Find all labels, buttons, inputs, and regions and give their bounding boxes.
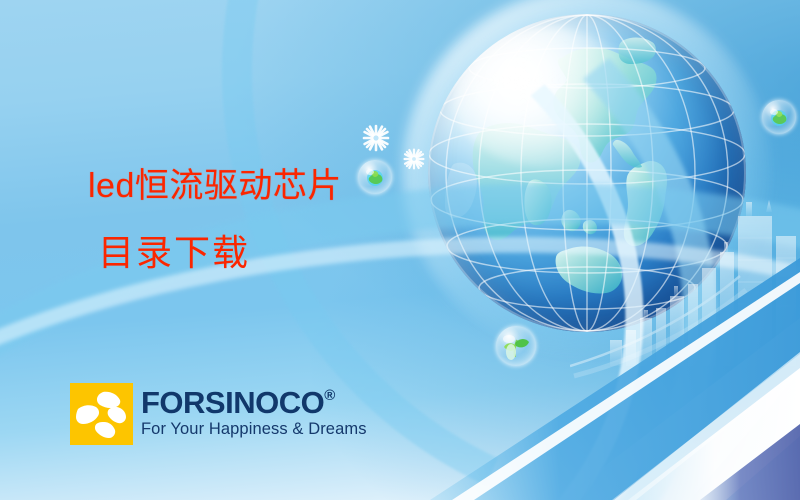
brand-tagline: For Your Happiness & Dreams: [141, 420, 367, 439]
pinwheel-flower-icon: [70, 383, 133, 445]
page-title: led恒流驱动芯片: [88, 164, 342, 208]
page-title-cjk: 恒流驱动芯片: [135, 166, 342, 206]
banner-canvas: led恒流驱动芯片 目录下载 FORSINOCO® For Your Happi…: [0, 0, 800, 500]
pinwheel-petals: [70, 383, 133, 445]
brand-logo[interactable]: FORSINOCO® For Your Happiness & Dreams: [70, 383, 367, 445]
brand-name: FORSINOCO®: [141, 387, 367, 418]
brand-text-block: FORSINOCO® For Your Happiness & Dreams: [141, 383, 367, 439]
registered-trademark-icon: ®: [324, 387, 335, 404]
page-subtitle: 目录下载: [98, 232, 250, 276]
page-title-latin: led: [88, 167, 135, 205]
brand-name-word: FORSINOCO: [141, 385, 324, 420]
